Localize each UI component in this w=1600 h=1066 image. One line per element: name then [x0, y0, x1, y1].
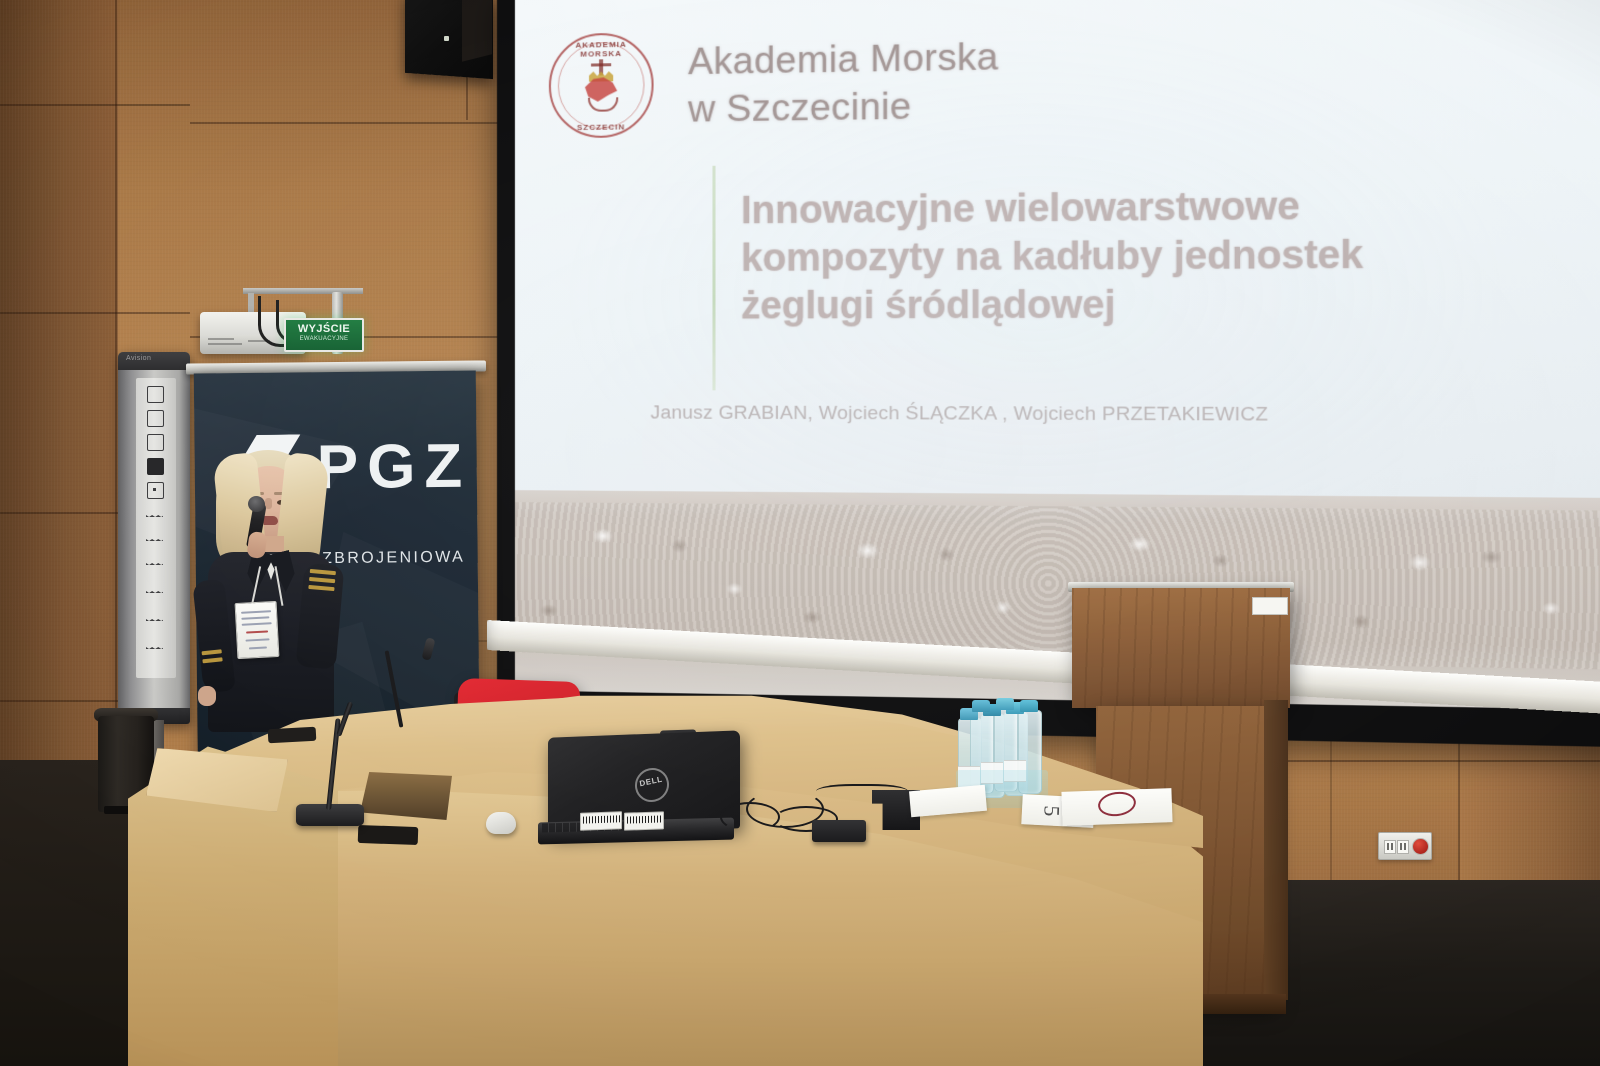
projection-screen-surface: AKADEMIA MORSKA SZCZECIN Akademia Morska…	[515, 0, 1600, 710]
power-supply-brick	[812, 820, 866, 842]
loudspeaker-led	[444, 36, 449, 41]
wall-left-return	[0, 0, 118, 760]
projector-mount-arm	[243, 288, 363, 294]
exit-sign-sub-text: EWAKUACYJNE	[286, 336, 362, 342]
rank-stripe	[202, 657, 222, 663]
conference-name-badge	[235, 601, 280, 659]
lectern-side-panel	[1264, 700, 1288, 1000]
presentation-slide: AKADEMIA MORSKA SZCZECIN Akademia Morska…	[515, 0, 1600, 710]
lectern-label	[1252, 597, 1288, 615]
badge-text-line	[242, 622, 272, 626]
computer-mouse[interactable]	[486, 812, 516, 834]
bottle-cap	[972, 700, 990, 712]
slide-organization-line1: Akademia Morska	[688, 34, 998, 86]
logo-shield-emblem	[581, 59, 621, 110]
rank-stripe	[309, 577, 335, 583]
panel-seam	[0, 104, 190, 106]
wall-power-outlet[interactable]	[1378, 832, 1432, 860]
desk-cable-grommet	[268, 727, 317, 743]
asset-tag-sticker	[580, 811, 622, 830]
rank-stripe	[202, 649, 222, 655]
slide-title-line2: kompozyty na kadłuby jednostek	[741, 230, 1528, 283]
print-icon[interactable]	[147, 386, 164, 403]
logo-cross-bar	[591, 63, 611, 66]
interactive-whiteboard[interactable]: Avision	[118, 352, 190, 724]
presenter	[192, 440, 362, 730]
pen-thin-icon[interactable]	[146, 510, 163, 523]
eraser-icon[interactable]	[146, 586, 163, 599]
handwritten-mark-5: 5	[1038, 805, 1064, 817]
badge-text-line	[241, 610, 271, 614]
logo-arc-bottom-text: SZCZECIN	[561, 122, 642, 132]
slide-accent-rule	[712, 166, 715, 391]
projector-vent	[208, 343, 242, 345]
badge-text-line	[245, 638, 269, 641]
logo-arc-top-text: AKADEMIA MORSKA	[561, 40, 642, 59]
select-icon[interactable]	[147, 482, 164, 499]
badge-text-line	[249, 647, 267, 650]
slide-authors: Janusz GRABIAN, Wojciech ŚLĄCZKA , Wojci…	[651, 402, 1541, 427]
outlet-socket[interactable]	[1397, 840, 1409, 854]
bottle-cap	[996, 698, 1014, 710]
akademia-morska-logo-icon: AKADEMIA MORSKA SZCZECIN	[549, 32, 654, 138]
panel-seam	[0, 312, 190, 314]
exit-sign-main-text: WYJŚCIE	[286, 323, 362, 335]
pen-thick-icon[interactable]	[146, 558, 163, 571]
whiteboard-toolbar[interactable]	[136, 378, 176, 678]
desk-cable-grommet-2	[358, 825, 419, 845]
highlighter-icon[interactable]	[146, 614, 163, 627]
asset-tag-sticker	[624, 811, 664, 830]
slide-title: Innowacyjne wielowarstwowe kompozyty na …	[741, 181, 1528, 331]
emergency-stop-button-icon[interactable]	[1412, 838, 1429, 855]
badge-name-line	[246, 630, 268, 633]
fill-color-icon[interactable]	[147, 458, 164, 475]
bottle-cap	[1020, 700, 1038, 712]
whiteboard-header: Avision	[118, 352, 190, 370]
conference-room-scene: AKADEMIA MORSKA SZCZECIN Akademia Morska…	[0, 0, 1600, 1066]
page-icon[interactable]	[147, 434, 164, 451]
badge-text-line	[241, 616, 269, 619]
undo-icon[interactable]	[146, 642, 163, 655]
projector-vent	[208, 338, 234, 340]
desk-opening	[360, 772, 452, 820]
rank-stripe	[310, 569, 336, 575]
slide-title-line3: żeglugi śródlądowej	[741, 280, 1528, 331]
outlet-socket[interactable]	[1384, 840, 1396, 854]
panel-seam	[115, 0, 117, 760]
presenter-hand-left	[198, 686, 216, 706]
emergency-exit-sign: WYJŚCIE EWAKUACYJNE	[284, 318, 364, 352]
rank-stripe	[308, 585, 334, 591]
loudspeaker-side	[462, 0, 492, 62]
whiteboard-brand-label: Avision	[126, 355, 151, 362]
slide-organization: Akademia Morska w Szczecinie	[688, 34, 998, 133]
pen-medium-icon[interactable]	[146, 534, 163, 547]
presenter-arm-right	[296, 562, 345, 669]
slide-organization-line2: w Szczecinie	[688, 81, 998, 133]
slide-title-line1: Innowacyjne wielowarstwowe	[741, 181, 1528, 236]
save-icon[interactable]	[147, 410, 164, 427]
